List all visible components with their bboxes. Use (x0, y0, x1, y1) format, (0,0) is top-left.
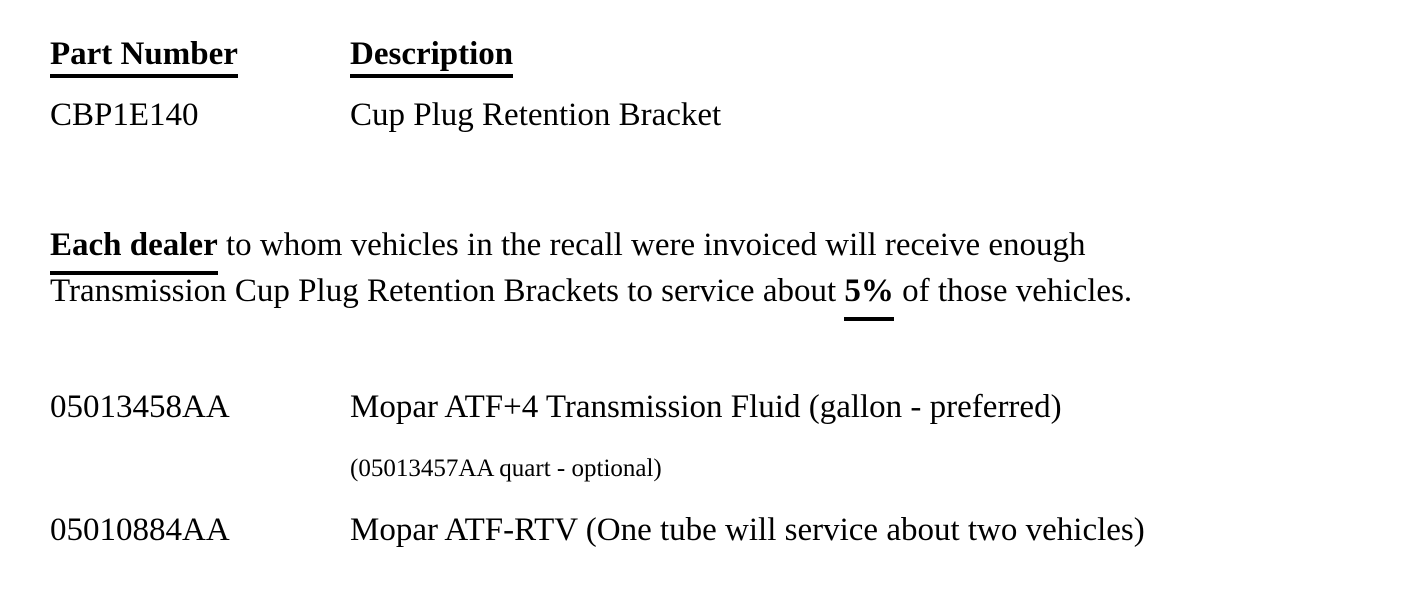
column-header-part-number: Part Number (50, 38, 238, 71)
column-header-description: Description (350, 38, 513, 71)
fluid-row-part-number-3: 05010884AA (50, 514, 230, 547)
paragraph-line-1: Each dealer to whom vehicles in the reca… (50, 222, 1350, 268)
fluid-row-description-3: Mopar ATF-RTV (One tube will service abo… (350, 514, 1145, 547)
fluid-row-part-number-1: 05013458AA (50, 391, 230, 424)
paragraph-percent-bold: 5% (844, 268, 894, 314)
column-header-part-number-label: Part Number (50, 38, 238, 71)
document-page: Part Number Description CBP1E140 Cup Plu… (0, 0, 1408, 594)
fluid-row-description-1: Mopar ATF+4 Transmission Fluid (gallon -… (350, 391, 1062, 424)
table-row-part-number: CBP1E140 (50, 99, 199, 132)
paragraph-line-2-after-percent: of those vehicles. (894, 273, 1132, 309)
paragraph-line-2: Transmission Cup Plug Retention Brackets… (50, 268, 1350, 314)
fluid-row-description-2: (05013457AA quart - optional) (350, 456, 662, 481)
table-row-description: Cup Plug Retention Bracket (350, 99, 721, 132)
paragraph-line-2-before-percent: Transmission Cup Plug Retention Brackets… (50, 273, 844, 309)
paragraph-line-1-text: to whom vehicles in the recall were invo… (218, 227, 1086, 263)
dealer-allocation-paragraph: Each dealer to whom vehicles in the reca… (50, 222, 1350, 314)
column-header-description-label: Description (350, 38, 513, 71)
paragraph-lead-bold: Each dealer (50, 222, 218, 268)
